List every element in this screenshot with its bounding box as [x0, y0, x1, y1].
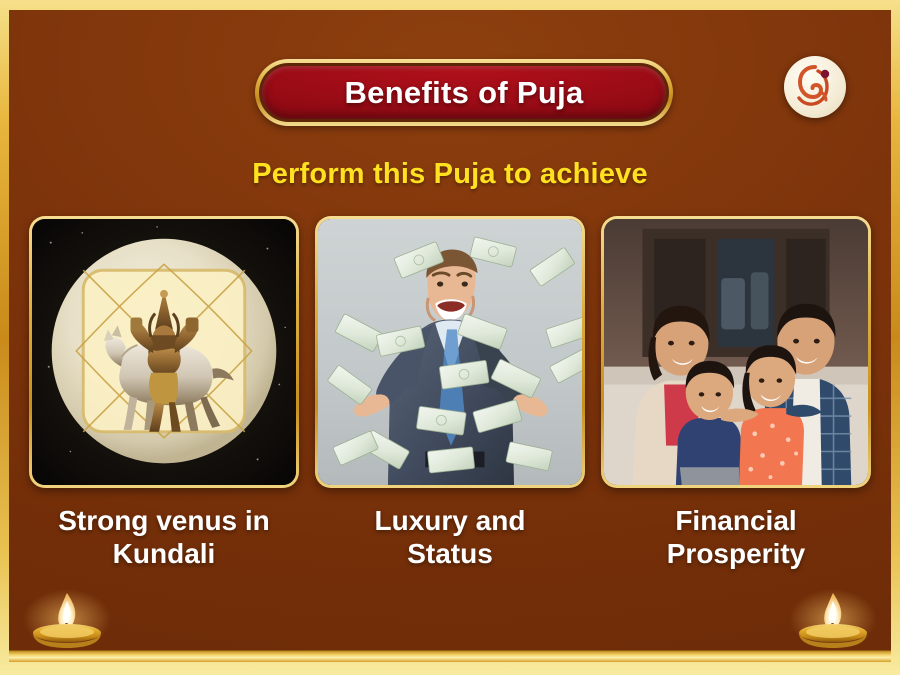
poster-frame: Benefits of Puja Perform this Puja to ac… [0, 0, 900, 675]
diya-lamp-right [785, 585, 881, 649]
caption-line-1: Financial [667, 505, 806, 538]
ganesha-logo-icon [785, 57, 845, 117]
benefit-card [601, 216, 871, 488]
happy-family-image [604, 219, 868, 485]
bottom-gold-bar [9, 650, 891, 662]
man-with-money-image [318, 219, 582, 485]
benefit-card [29, 216, 299, 488]
benefit-caption: Financial Prosperity [667, 505, 806, 571]
title-banner-pill: Benefits of Puja [262, 66, 666, 119]
page-subtitle: Perform this Puja to achieve [9, 158, 891, 191]
ganesha-logo [784, 56, 846, 118]
diya-lamp-icon [19, 585, 115, 649]
caption-line-2: Status [375, 538, 526, 571]
benefits-card-row: Strong venus in Kundali [9, 216, 891, 571]
benefit-item: Strong venus in Kundali [29, 216, 299, 571]
benefit-item: Financial Prosperity [601, 216, 871, 571]
caption-line-1: Strong venus in [58, 505, 270, 538]
shukra-venus-deity-yantra-image [32, 219, 296, 485]
title-banner: Benefits of Puja [255, 59, 673, 126]
benefit-caption: Luxury and Status [375, 505, 526, 571]
caption-line-2: Kundali [58, 538, 270, 571]
benefit-caption: Strong venus in Kundali [58, 505, 270, 571]
benefit-item: Luxury and Status [315, 216, 585, 571]
diya-lamp-left [19, 585, 115, 649]
caption-line-1: Luxury and [375, 505, 526, 538]
caption-line-2: Prosperity [667, 538, 806, 571]
diya-lamp-icon [785, 585, 881, 649]
poster-body: Benefits of Puja Perform this Puja to ac… [9, 10, 891, 662]
page-title: Benefits of Puja [344, 75, 583, 111]
benefit-card [315, 216, 585, 488]
